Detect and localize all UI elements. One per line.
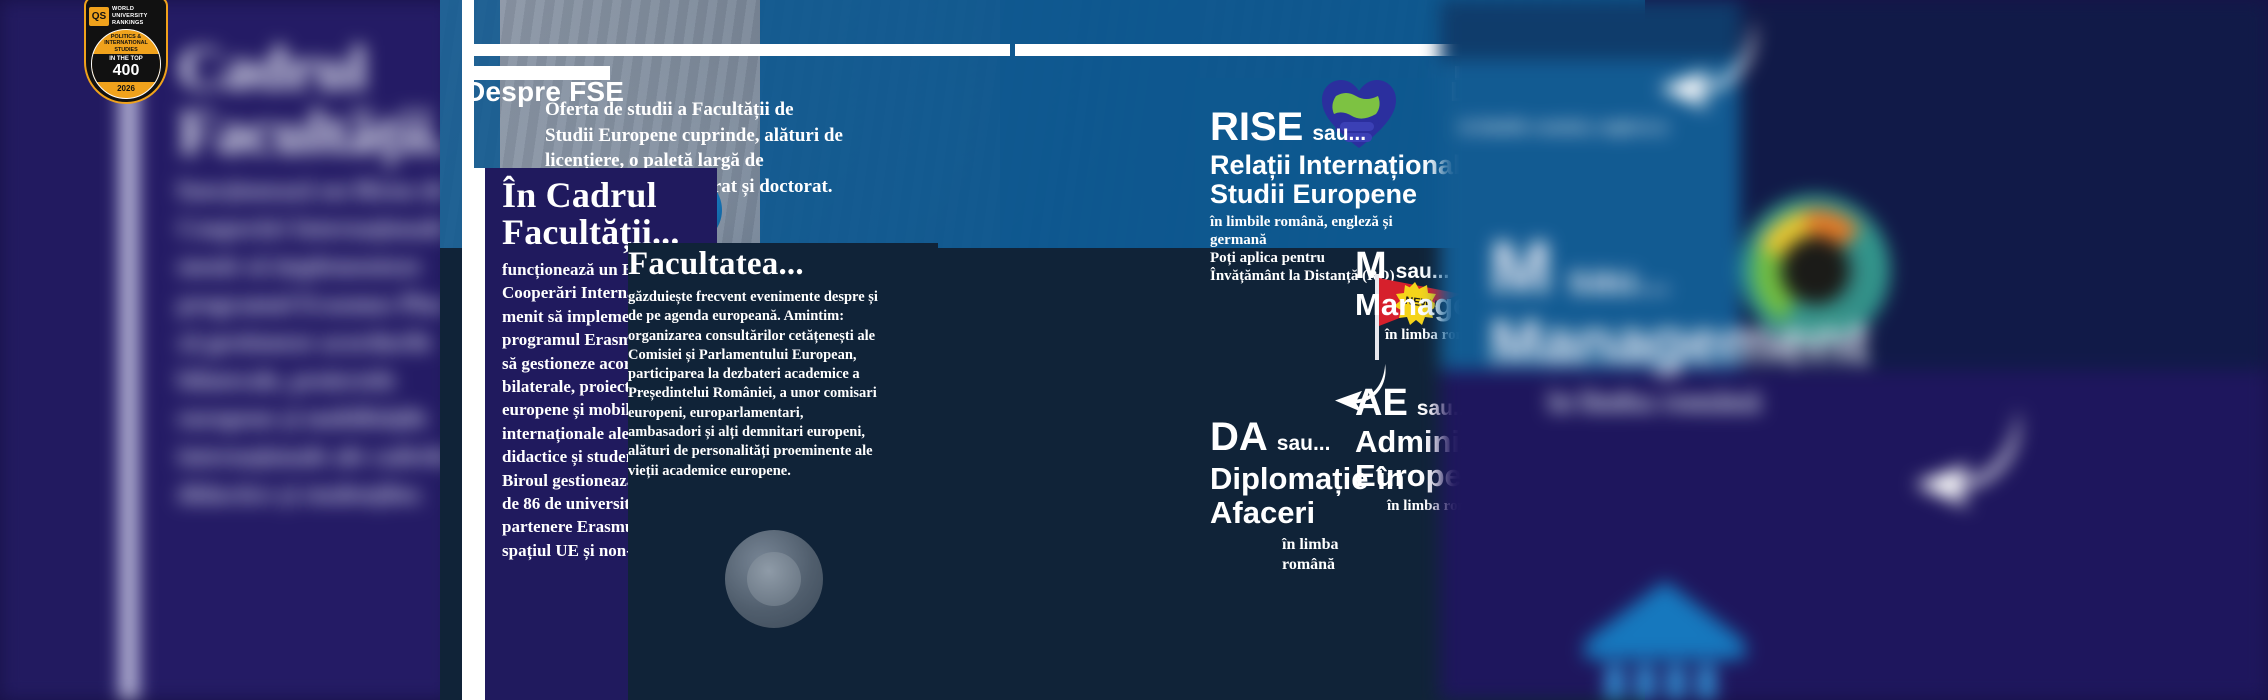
qs-badge-line3: RANKINGS	[112, 20, 163, 26]
qs-badge-year: 2026	[92, 84, 160, 93]
right-slide-sau: sau...	[1568, 258, 1670, 303]
slide-carousel: Cadrul Facultății... funcționează un Bir…	[0, 0, 2268, 700]
photo-overlay-strip	[1000, 0, 1200, 248]
left-slide-title-line1: Cadrul	[178, 36, 452, 102]
program-m-abbr: M	[1355, 245, 1387, 288]
right-slide-arrow-icon	[1655, 10, 1765, 120]
next-slide-preview[interactable]: în limbile română, engleză și Risk M sau…	[1440, 0, 2268, 700]
previous-slide-preview[interactable]: Cadrul Facultății... funcționează un Bir…	[0, 0, 452, 700]
left-slide-title-line2: Facultății...	[178, 100, 452, 166]
right-slide-bank-icon	[1580, 575, 1750, 700]
qs-badge-line1: WORLD	[112, 6, 163, 12]
program-da-note-line2: română	[1282, 555, 1405, 575]
left-slide-dark-column	[0, 0, 118, 700]
right-slide-program: M sau... Management în limba română	[1490, 225, 1869, 420]
cadru-title-line1: În Cadrul	[502, 175, 657, 215]
program-da-sau: sau...	[1277, 432, 1331, 456]
left-slide-white-rule	[118, 0, 140, 700]
qs-badge-line2: UNIVERSITY	[112, 13, 163, 19]
program-da-abbr: DA	[1210, 415, 1268, 460]
facultatea-body: găzduiește frecvent evenimente despre și…	[628, 288, 878, 481]
right-slide-name: Management	[1490, 310, 1869, 376]
qs-badge-subject-line3: STUDIES	[92, 47, 160, 53]
facultatea-title: Facultatea...	[628, 245, 804, 283]
right-slide-arrow-icon-2	[1910, 400, 2030, 517]
cadru-white-rule	[474, 168, 485, 700]
left-slide-body: funcționează un Birou de Cooperări Inter…	[178, 172, 452, 514]
right-slide-abbr: M	[1490, 225, 1552, 310]
right-slide-note: în limba română	[1548, 384, 1869, 420]
program-rise-sau: sau...	[1312, 122, 1366, 146]
program-da-note-line1: în limba	[1282, 535, 1405, 555]
despre-fse-rule-top	[465, 44, 1010, 56]
euro-coin-icon	[725, 530, 823, 628]
qs-badge-circle: POLITICS & INTERNATIONAL STUDIES IN THE …	[91, 29, 161, 99]
right-slide-note-top: în limbile română, engleză și	[1460, 115, 1675, 138]
qs-badge-rank-value: 400	[92, 62, 160, 79]
program-rise-note-line1: în limbile română, engleză și	[1210, 213, 1425, 231]
qs-ranking-badge: QS WORLD UNIVERSITY RANKINGS POLITICS & …	[84, 0, 168, 104]
qs-badge-header: QS WORLD UNIVERSITY RANKINGS	[89, 1, 163, 31]
program-ae-abbr: AE	[1355, 382, 1408, 425]
program-rise-abbr: RISE	[1210, 105, 1303, 150]
qs-logo-icon: QS	[89, 7, 109, 26]
